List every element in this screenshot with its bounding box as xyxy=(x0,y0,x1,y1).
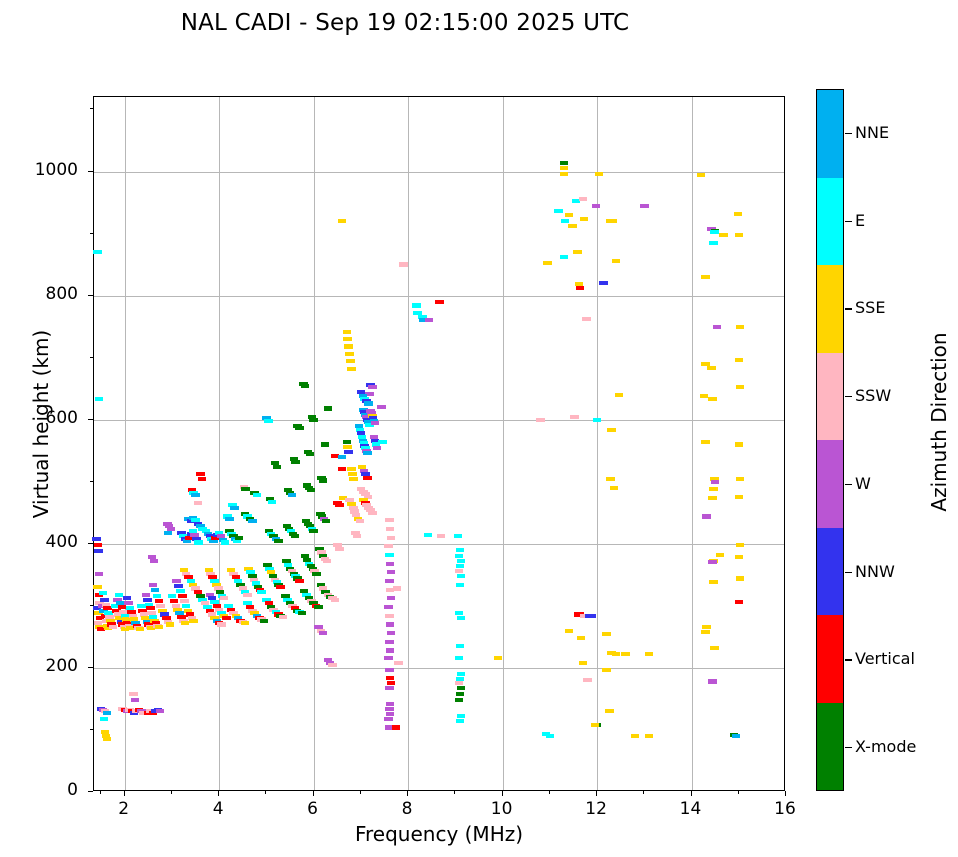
y-tick-label: 0 xyxy=(0,780,78,800)
scatter-mark xyxy=(95,572,104,576)
scatter-mark xyxy=(338,455,347,459)
scatter-mark xyxy=(387,681,396,685)
y-tick-major xyxy=(88,295,93,296)
scatter-mark xyxy=(546,734,555,738)
scatter-mark xyxy=(384,544,393,548)
scatter-mark xyxy=(709,241,718,245)
x-tick-minor xyxy=(454,791,455,794)
scatter-mark xyxy=(536,418,545,422)
scatter-mark xyxy=(456,548,465,552)
scatter-mark xyxy=(456,564,465,568)
scatter-mark xyxy=(385,640,394,644)
scatter-mark xyxy=(344,450,353,454)
x-tick-major xyxy=(691,791,692,796)
scatter-mark xyxy=(131,698,140,702)
scatter-mark xyxy=(243,593,252,597)
scatter-mark xyxy=(301,384,310,388)
scatter-mark xyxy=(335,503,344,507)
scatter-mark xyxy=(457,672,466,676)
colorbar-label-x-mode: X-mode xyxy=(855,737,916,756)
scatter-mark xyxy=(595,172,604,176)
scatter-mark xyxy=(156,709,165,713)
y-tick-minor xyxy=(90,605,93,606)
scatter-mark xyxy=(307,488,316,492)
scatter-mark xyxy=(609,219,618,223)
scatter-mark xyxy=(713,325,722,329)
y-tick-label: 1000 xyxy=(0,160,78,180)
scatter-mark xyxy=(386,712,395,716)
scatter-mark xyxy=(156,604,165,608)
scatter-mark xyxy=(274,539,283,543)
scatter-mark xyxy=(399,262,408,266)
scatter-mark xyxy=(708,397,717,401)
y-tick-major xyxy=(88,419,93,420)
scatter-mark xyxy=(719,233,728,237)
scatter-mark xyxy=(198,477,207,481)
x-tick-minor xyxy=(643,791,644,794)
scatter-mark xyxy=(735,442,744,446)
x-tick-minor xyxy=(100,791,101,794)
scatter-mark xyxy=(312,572,321,576)
scatter-mark xyxy=(386,622,395,626)
scatter-mark xyxy=(344,344,353,348)
colorbar-tick xyxy=(845,133,852,134)
scatter-mark xyxy=(631,734,640,738)
colorbar-label-sse: SSE xyxy=(855,298,885,317)
scatter-mark xyxy=(560,161,569,165)
scatter-mark xyxy=(435,300,444,304)
scatter-mark xyxy=(288,493,297,497)
scatter-mark xyxy=(220,596,229,600)
scatter-mark xyxy=(364,401,373,405)
scatter-mark xyxy=(176,589,185,593)
scatter-mark xyxy=(230,506,239,510)
scatter-mark xyxy=(710,646,719,650)
scatter-mark xyxy=(560,172,569,176)
scatter-mark xyxy=(306,452,315,456)
scatter-mark xyxy=(349,477,358,481)
scatter-mark xyxy=(736,385,745,389)
scatter-mark xyxy=(593,418,602,422)
scatter-mark xyxy=(605,709,614,713)
scatter-mark xyxy=(338,467,347,471)
scatter-mark xyxy=(736,543,745,547)
scatter-mark xyxy=(99,591,108,595)
scatter-mark xyxy=(314,605,323,609)
scatter-mark xyxy=(645,734,654,738)
x-tick-label: 4 xyxy=(188,799,248,819)
scatter-mark xyxy=(393,586,402,590)
colorbar-tick xyxy=(845,484,852,485)
plot-area xyxy=(93,96,785,791)
scatter-mark xyxy=(149,583,158,587)
scatter-mark xyxy=(456,644,465,648)
scatter-mark xyxy=(343,330,352,334)
scatter-mark xyxy=(711,480,720,484)
scatter-mark xyxy=(155,625,164,629)
scatter-mark xyxy=(732,734,741,738)
scatter-mark xyxy=(457,686,466,690)
scatter-mark xyxy=(735,555,744,559)
scatter-mark xyxy=(182,604,191,608)
scatter-mark xyxy=(331,598,340,602)
scatter-mark xyxy=(322,519,331,523)
scatter-mark xyxy=(387,570,396,574)
scatter-mark xyxy=(494,656,503,660)
colorbar-label-e: E xyxy=(855,211,865,230)
scatter-mark xyxy=(573,250,582,254)
scatter-mark xyxy=(103,737,112,741)
x-tick-label: 10 xyxy=(472,799,532,819)
scatter-mark xyxy=(233,539,242,543)
scatter-mark xyxy=(457,574,466,578)
scatter-mark xyxy=(384,656,393,660)
scatter-mark xyxy=(455,611,464,615)
scatter-mark xyxy=(602,668,611,672)
scatter-mark xyxy=(456,692,465,696)
scatter-mark xyxy=(697,173,706,177)
x-tick-label: 14 xyxy=(661,799,721,819)
x-tick-label: 12 xyxy=(566,799,626,819)
colorbar-tick xyxy=(845,572,852,573)
scatter-mark xyxy=(264,419,273,423)
scatter-mark xyxy=(602,632,611,636)
scatter-mark xyxy=(384,605,393,609)
scatter-mark xyxy=(194,501,203,505)
scatter-mark xyxy=(455,554,464,558)
scatter-mark xyxy=(103,711,112,715)
colorbar-segment-nne[interactable] xyxy=(817,90,843,178)
scatter-mark xyxy=(194,540,203,544)
scatter-mark xyxy=(570,415,579,419)
scatter-mark xyxy=(455,681,464,685)
scatter-mark xyxy=(385,553,394,557)
scatter-mark xyxy=(377,405,386,409)
scatter-mark xyxy=(368,511,377,515)
scatter-mark xyxy=(328,663,337,667)
scatter-mark xyxy=(136,627,145,631)
scatter-mark xyxy=(174,584,183,588)
scatter-mark xyxy=(93,250,102,254)
scatter-mark xyxy=(338,219,347,223)
scatter-mark xyxy=(457,559,466,563)
scatter-mark xyxy=(735,233,744,237)
scatter-mark xyxy=(225,517,234,521)
colorbar-tick xyxy=(845,308,852,309)
scatter-mark xyxy=(209,539,218,543)
scatter-mark xyxy=(343,445,352,449)
scatter-mark xyxy=(324,406,333,410)
scatter-mark xyxy=(709,487,718,491)
scatter-mark xyxy=(615,393,624,397)
scatter-mark xyxy=(702,514,711,518)
colorbar-segment-e[interactable] xyxy=(817,178,843,266)
colorbar-label-w: W xyxy=(855,474,871,493)
colorbar-label-vertical: Vertical xyxy=(855,649,915,668)
scatter-mark xyxy=(736,477,745,481)
scatter-mark xyxy=(363,476,372,480)
colorbar-tick xyxy=(845,396,852,397)
scatter-mark xyxy=(356,519,365,523)
scatter-mark xyxy=(189,619,198,623)
scatter-mark xyxy=(708,679,717,683)
scatter-mark xyxy=(612,259,621,263)
scatter-mark xyxy=(582,317,591,321)
scatter-mark xyxy=(454,534,463,538)
scatter-mark xyxy=(543,261,552,265)
scatter-mark xyxy=(142,593,151,597)
x-tick-label: 2 xyxy=(94,799,154,819)
scatter-mark xyxy=(123,596,132,600)
x-tick-major xyxy=(313,791,314,796)
scatter-mark xyxy=(181,621,190,625)
scatter-mark xyxy=(386,527,395,531)
scatter-mark xyxy=(392,725,401,729)
y-tick-label: 200 xyxy=(0,656,78,676)
scatter-mark xyxy=(384,717,393,721)
scatter-mark xyxy=(373,446,382,450)
x-tick-label: 16 xyxy=(755,799,815,819)
scatter-mark xyxy=(387,536,396,540)
scatter-mark xyxy=(561,219,570,223)
scatter-mark xyxy=(583,678,592,682)
y-tick-major xyxy=(88,171,93,172)
colorbar[interactable] xyxy=(816,89,844,791)
scatter-mark xyxy=(568,224,577,228)
scatter-mark xyxy=(710,230,719,234)
scatter-mark xyxy=(702,625,711,629)
scatter-mark xyxy=(455,569,464,573)
scatter-mark xyxy=(577,636,586,640)
scatter-mark xyxy=(276,585,285,589)
scatter-mark xyxy=(385,614,394,618)
y-tick-major xyxy=(88,543,93,544)
scatter-mark xyxy=(172,579,181,583)
x-tick-minor xyxy=(265,791,266,794)
y-tick-minor xyxy=(90,233,93,234)
scatter-mark xyxy=(100,717,109,721)
scatter-mark xyxy=(260,619,269,623)
scatter-mark xyxy=(640,204,649,208)
scatter-mark xyxy=(560,166,569,170)
y-tick-minor xyxy=(90,357,93,358)
x-tick-major xyxy=(502,791,503,796)
x-tick-minor xyxy=(171,791,172,794)
colorbar-segment-nnw[interactable] xyxy=(817,528,843,616)
scatter-mark xyxy=(708,560,717,564)
scatter-mark xyxy=(241,621,250,625)
scatter-mark xyxy=(437,534,446,538)
scatter-mark xyxy=(178,594,187,598)
scatter-mark xyxy=(295,426,304,430)
x-tick-minor xyxy=(360,791,361,794)
scatter-mark xyxy=(155,599,164,603)
scatter-mark xyxy=(386,676,395,680)
scatter-mark xyxy=(291,534,300,538)
colorbar-tick xyxy=(845,747,852,748)
scatter-mark xyxy=(168,594,177,598)
scatter-mark xyxy=(94,543,103,547)
scatter-mark xyxy=(295,579,304,583)
scatter-mark xyxy=(153,594,162,598)
scatter-mark xyxy=(735,495,744,499)
y-axis-label: Virtual height (km) xyxy=(29,264,53,584)
colorbar-label-nnw: NNW xyxy=(855,562,895,581)
scatter-mark xyxy=(92,537,101,541)
scatter-points xyxy=(94,97,784,790)
scatter-mark xyxy=(612,652,621,656)
colorbar-segment-x-mode[interactable] xyxy=(817,703,843,791)
scatter-mark xyxy=(279,615,288,619)
colorbar-title: Azimuth Direction xyxy=(927,262,951,582)
x-tick-major xyxy=(407,791,408,796)
scatter-mark xyxy=(606,477,615,481)
colorbar-segment-vertical[interactable] xyxy=(817,615,843,703)
scatter-mark xyxy=(455,698,464,702)
scatter-mark xyxy=(455,656,464,660)
scatter-mark xyxy=(735,600,744,604)
scatter-mark xyxy=(346,359,355,363)
scatter-mark xyxy=(222,616,231,620)
x-tick-minor xyxy=(549,791,550,794)
x-tick-major xyxy=(785,791,786,796)
scatter-mark xyxy=(298,611,307,615)
scatter-mark xyxy=(343,440,352,444)
x-tick-label: 6 xyxy=(283,799,343,819)
scatter-mark xyxy=(363,451,372,455)
scatter-mark xyxy=(385,686,394,690)
scatter-mark xyxy=(565,629,574,633)
scatter-mark xyxy=(268,500,277,504)
scatter-mark xyxy=(734,212,743,216)
scatter-mark xyxy=(235,536,244,540)
scatter-mark xyxy=(170,599,179,603)
scatter-mark xyxy=(151,588,160,592)
scatter-mark xyxy=(347,467,356,471)
scatter-mark xyxy=(709,580,718,584)
scatter-mark xyxy=(378,440,387,444)
scatter-mark xyxy=(323,559,332,563)
scatter-mark xyxy=(386,562,395,566)
x-tick-major xyxy=(218,791,219,796)
scatter-mark xyxy=(456,719,465,723)
scatter-mark xyxy=(241,487,250,491)
scatter-mark xyxy=(708,496,717,500)
scatter-mark xyxy=(456,583,465,587)
scatter-mark xyxy=(93,585,102,589)
colorbar-segment-ssw[interactable] xyxy=(817,353,843,441)
scatter-mark xyxy=(191,493,200,497)
scatter-mark xyxy=(607,428,616,432)
scatter-mark xyxy=(385,668,394,672)
scatter-mark xyxy=(610,486,619,490)
scatter-mark xyxy=(621,652,630,656)
x-tick-label: 8 xyxy=(377,799,437,819)
scatter-mark xyxy=(385,707,394,711)
scatter-mark xyxy=(716,553,725,557)
scatter-mark xyxy=(736,325,745,329)
y-tick-minor xyxy=(90,108,93,109)
scatter-mark xyxy=(424,533,433,537)
scatter-mark xyxy=(735,358,744,362)
scatter-mark xyxy=(736,576,745,580)
y-tick-minor xyxy=(90,481,93,482)
scatter-mark xyxy=(129,692,138,696)
scatter-mark xyxy=(580,217,589,221)
y-tick-minor xyxy=(90,729,93,730)
scatter-mark xyxy=(701,275,710,279)
scatter-mark xyxy=(353,534,362,538)
colorbar-segment-sse[interactable] xyxy=(817,265,843,353)
scatter-mark xyxy=(309,418,318,422)
scatter-mark xyxy=(253,493,262,497)
scatter-mark xyxy=(257,590,266,594)
colorbar-segment-w[interactable] xyxy=(817,440,843,528)
scatter-mark xyxy=(457,616,466,620)
scatter-mark xyxy=(700,394,709,398)
scatter-mark xyxy=(109,625,118,629)
scatter-mark xyxy=(425,318,434,322)
scatter-mark xyxy=(143,598,152,602)
scatter-mark xyxy=(94,549,103,553)
x-tick-minor xyxy=(738,791,739,794)
scatter-mark xyxy=(273,465,282,469)
scatter-mark xyxy=(554,209,563,213)
scatter-mark xyxy=(394,661,403,665)
x-tick-major xyxy=(596,791,597,796)
scatter-mark xyxy=(180,599,189,603)
scatter-mark xyxy=(95,397,104,401)
scatter-mark xyxy=(386,648,395,652)
scatter-mark xyxy=(371,421,380,425)
scatter-mark xyxy=(385,579,394,583)
colorbar-label-ssw: SSW xyxy=(855,386,891,405)
scatter-mark xyxy=(335,547,344,551)
scatter-mark xyxy=(164,531,173,535)
colorbar-tick xyxy=(845,659,852,660)
scatter-mark xyxy=(124,601,133,605)
scatter-mark xyxy=(248,519,257,523)
scatter-mark xyxy=(291,460,300,464)
scatter-mark xyxy=(701,440,710,444)
scatter-mark xyxy=(707,366,716,370)
scatter-mark xyxy=(321,442,330,446)
scatter-mark xyxy=(386,702,395,706)
y-tick-major xyxy=(88,791,93,792)
page-title: NAL CADI - Sep 19 02:15:00 2025 UTC xyxy=(0,10,810,36)
scatter-mark xyxy=(579,661,588,665)
scatter-mark xyxy=(587,614,596,618)
scatter-mark xyxy=(560,255,569,259)
scatter-mark xyxy=(592,204,601,208)
scatter-mark xyxy=(217,622,226,626)
scatter-mark xyxy=(576,286,585,290)
scatter-mark xyxy=(319,631,328,635)
scatter-mark xyxy=(345,352,354,356)
scatter-mark xyxy=(565,213,574,217)
scatter-mark xyxy=(645,652,654,656)
colorbar-label-nne: NNE xyxy=(855,123,889,142)
scatter-mark xyxy=(579,197,588,201)
scatter-mark xyxy=(309,529,318,533)
scatter-mark xyxy=(387,631,396,635)
scatter-mark xyxy=(387,596,396,600)
x-tick-major xyxy=(124,791,125,796)
scatter-mark xyxy=(183,539,192,543)
scatter-mark xyxy=(221,540,230,544)
scatter-mark xyxy=(347,367,356,371)
scatter-mark xyxy=(457,714,466,718)
